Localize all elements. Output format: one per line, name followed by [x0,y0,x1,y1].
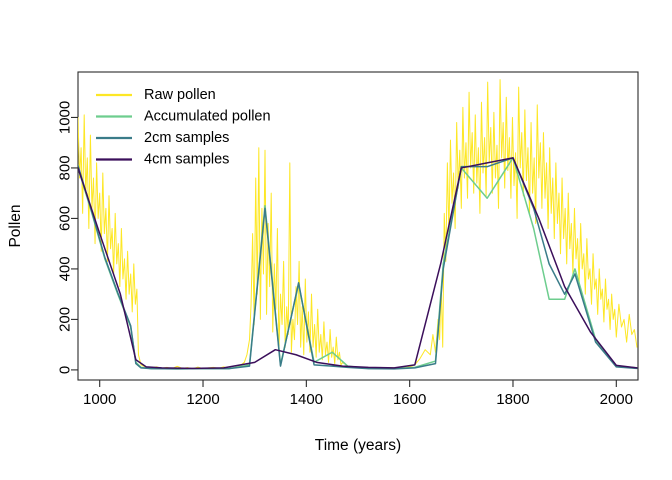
y-axis-title: Pollen [7,204,24,247]
x-tick-label-1400: 1400 [290,391,323,408]
legend-label-raw-pollen: Raw pollen [144,87,216,103]
y-tick-label-600: 600 [57,206,74,231]
pollen-chart: 1000120014001600180020000200400600800100… [0,0,672,480]
y-tick-label-0: 0 [57,366,74,374]
x-tick-label-1800: 1800 [496,391,529,408]
legend-label-4cm-samples: 4cm samples [144,152,229,168]
y-tick-label-1000: 1000 [57,101,74,134]
y-tick-label-200: 200 [57,307,74,332]
chart-canvas: 1000120014001600180020000200400600800100… [0,0,672,480]
x-tick-label-1600: 1600 [393,391,426,408]
x-tick-label-1200: 1200 [186,391,219,408]
y-tick-label-400: 400 [57,256,74,281]
x-tick-label-2000: 2000 [600,391,633,408]
x-tick-label-1000: 1000 [83,391,116,408]
legend-label-2cm-samples: 2cm samples [144,130,229,146]
legend-label-accumulated-pollen: Accumulated pollen [144,109,271,125]
x-axis-title: Time (years) [315,437,401,454]
y-tick-label-800: 800 [57,155,74,180]
